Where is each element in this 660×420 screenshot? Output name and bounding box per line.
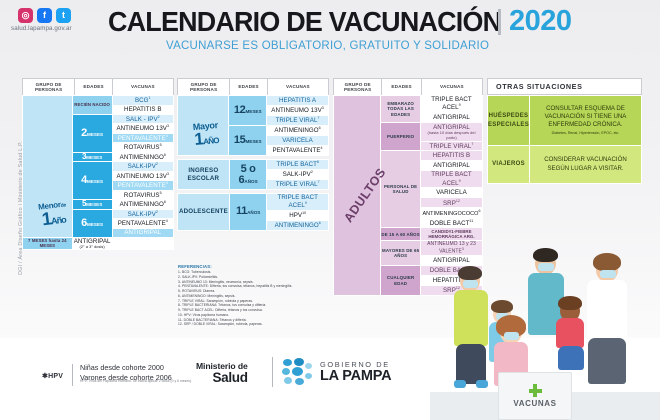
age-label: 12MESES bbox=[229, 105, 266, 116]
table-row: EMBARAZO TODAS LAS EDADES TRIPLE BACT AC… bbox=[334, 96, 483, 113]
col-header-group: GRUPO DE PERSONAS bbox=[334, 79, 381, 95]
ministry-logo-text: Ministerio de Salud bbox=[196, 361, 248, 385]
table-row: 7 MESES hasta 24 MESES ANTIGRIPAL(2° a 3… bbox=[23, 237, 174, 250]
table-adults-header: GRUPO DE PERSONAS EDADES VACUNAS bbox=[333, 78, 483, 95]
hpv-divider bbox=[72, 364, 73, 386]
vaccine-label: ANTIGRIPAL bbox=[421, 162, 482, 169]
col-header-ages: EDADES bbox=[74, 79, 112, 95]
col-header-vaccines: VACUNAS bbox=[112, 79, 173, 95]
vaccine-label: HEPATITIS A bbox=[267, 97, 328, 104]
vaccine-label: VARICELA bbox=[421, 189, 482, 196]
ministry-line2: Salud bbox=[196, 371, 248, 385]
table-ingreso-escolar: INGRESO ESCOLAR 5 o 6AÑOS TRIPLE BACT8 S… bbox=[177, 159, 329, 190]
vaccine-label: BCG1 bbox=[113, 96, 173, 105]
page-subtitle: VACUNARSE ES OBLIGATORIO, GRATUITO Y SOL… bbox=[166, 40, 489, 52]
vaccine-label: PENTAVALENTE4 bbox=[113, 219, 173, 228]
references-title: REFERENCIAS: bbox=[178, 264, 330, 269]
vaccine-label: ANTINEUMO 13V3 bbox=[113, 124, 173, 133]
age-label: MAYORES DE 65 AÑOS bbox=[381, 248, 420, 259]
vaccine-label: TRIPLE VIRAL7 bbox=[267, 180, 328, 189]
table-older-header: GRUPO DE PERSONAS EDADES VACUNAS bbox=[177, 78, 329, 95]
vaccine-label: HEPATITIS B bbox=[421, 152, 482, 159]
vaccine-label: TRIPLE VIRAL7 bbox=[421, 142, 482, 151]
age-label: 11AÑOS bbox=[230, 206, 267, 217]
vaccine-label: VARICELA bbox=[267, 137, 328, 144]
vaccine-label: SALK-IPV2 bbox=[267, 170, 328, 179]
group-label-adolescente: ADOLESCENTE bbox=[178, 208, 229, 215]
vaccine-label: TRIPLE VIRAL7 bbox=[267, 116, 328, 125]
col-header-ages: EDADES bbox=[229, 79, 267, 95]
vaccine-label: ROTAVIRUS5 bbox=[113, 143, 173, 152]
col-header-vaccines: VACUNAS bbox=[267, 79, 328, 95]
vaccine-label: ANTIMENINGO6 bbox=[113, 153, 173, 162]
table-other-situations: OTRAS SITUACIONES HUÉSPEDES ESPECIALES C… bbox=[487, 78, 642, 184]
table-children-header: GRUPO DE PERSONAS EDADES VACUNAS bbox=[22, 78, 174, 95]
ministry-divider bbox=[272, 357, 273, 387]
government-line2: LA PAMPA bbox=[320, 369, 391, 384]
vaccine-label: PENTAVALENTE4 bbox=[113, 134, 173, 143]
vaccine-label: ANTIGRIPAL(hasta 10 días después del par… bbox=[421, 124, 482, 140]
age-label: EMBARAZO TODAS LAS EDADES bbox=[381, 101, 420, 117]
vaccine-label: ANTIGRIPAL(2° a 3° dosis) bbox=[73, 238, 112, 250]
header: ◎ f t salud.lapampa.gov.ar CALENDARIO DE… bbox=[0, 0, 660, 62]
hpv-subnote: HPV: Virus del Papiloma Humano. Se indic… bbox=[80, 379, 192, 383]
lapampa-logo-icon bbox=[281, 357, 315, 387]
age-label: 5 o 6AÑOS bbox=[230, 164, 267, 186]
vaccine-label: ANTIMENINGO6 bbox=[267, 126, 328, 135]
vaccine-label: ANTIMENINGO6 bbox=[267, 221, 328, 230]
site-url[interactable]: salud.lapampa.gov.ar bbox=[11, 25, 72, 32]
vaccine-label: TRIPLE BACT8 bbox=[267, 160, 328, 169]
vaccine-label: ANTIGRIPAL bbox=[113, 229, 173, 236]
vaccine-label: TRIPLE BACT ACEL9 bbox=[421, 171, 482, 187]
table-adolescente: ADOLESCENTE 11AÑOS TRIPLE BACT ACEL9 HPV… bbox=[177, 193, 329, 231]
hpv-asterisk-label: ✱HPV bbox=[42, 372, 63, 380]
vaccine-label: TRIPLE BACT ACEL9 bbox=[267, 194, 328, 210]
table-row: HUÉSPEDES ESPECIALES CONSULTAR ESQUEMA D… bbox=[488, 96, 642, 146]
social-links: ◎ f t bbox=[18, 8, 71, 23]
page-title: CALENDARIO DE VACUNACIÓN bbox=[108, 6, 501, 38]
table-other-body: HUÉSPEDES ESPECIALES CONSULTAR ESQUEMA D… bbox=[487, 95, 642, 184]
table-row: VIAJEROS CONSIDERAR VACUNACIÓN SEGÚN LUG… bbox=[488, 146, 642, 184]
vaccine-label: SALK-IPV2 bbox=[113, 210, 173, 219]
references-block: REFERENCIAS: 1- BCG: Tuberculosis. 2- SA… bbox=[178, 264, 330, 327]
vaccine-label: ANTINEUMO 13V3 bbox=[267, 106, 328, 115]
vaccine-label: HPV10 bbox=[267, 211, 328, 220]
other-label: VIAJEROS bbox=[488, 146, 530, 184]
other-label: HUÉSPEDES ESPECIALES bbox=[488, 96, 530, 146]
vaccine-label: TRIPLE BACT ACEL9 bbox=[421, 96, 482, 112]
title-divider bbox=[498, 9, 501, 35]
vaccine-label: ANTINEUMO 13V3 bbox=[113, 172, 173, 181]
age-label: 15MESES bbox=[229, 135, 266, 146]
vaccine-label: HEPATITIS B bbox=[113, 106, 173, 113]
table-row: INGRESO ESCOLAR 5 o 6AÑOS TRIPLE BACT8 bbox=[178, 160, 329, 170]
age-label: RECIÉN NACIDO bbox=[73, 102, 112, 107]
vaccine-label: PENTAVALENTE4 bbox=[113, 181, 173, 190]
col-header-group: GRUPO DE PERSONAS bbox=[178, 79, 229, 95]
table-children: GRUPO DE PERSONAS EDADES VACUNAS RECIÉN … bbox=[22, 78, 174, 250]
vaccine-label: ANTIGRIPAL bbox=[421, 114, 482, 121]
col-header-ages: EDADES bbox=[381, 79, 420, 95]
group-label-mayor-1-ano: Mayor 1AÑO bbox=[180, 119, 232, 149]
age-label: 2MESES bbox=[73, 128, 112, 139]
other-text: CONSIDERAR VACUNACIÓN SEGÚN LUGAR A VISI… bbox=[530, 152, 641, 176]
age-label: PUERPERIO bbox=[381, 134, 420, 139]
table-row: RECIÉN NACIDO BCG1 bbox=[23, 96, 174, 106]
reference-item: 12- SRP / DOBLE VIRAL: Sarampión, rubéol… bbox=[178, 322, 330, 327]
instagram-icon[interactable]: ◎ bbox=[18, 8, 33, 23]
age-label: PERSONAL DE SALUD bbox=[381, 184, 420, 195]
poster-root: ◎ f t salud.lapampa.gov.ar CALENDARIO DE… bbox=[0, 0, 660, 420]
other-text: CONSULTAR ESQUEMA DE VACUNACIÓN SI TIENE… bbox=[530, 101, 641, 141]
age-label: 7 MESES hasta 24 MESES bbox=[23, 238, 72, 249]
vaccine-label: PENTAVALENTE4 bbox=[267, 146, 328, 155]
other-situations-header: OTRAS SITUACIONES bbox=[487, 78, 642, 95]
table-older: GRUPO DE PERSONAS EDADES VACUNAS 12MESES… bbox=[177, 78, 329, 231]
col-header-vaccines: VACUNAS bbox=[421, 79, 482, 95]
year-label: 2020 bbox=[509, 5, 572, 38]
table-row: ADOLESCENTE 11AÑOS TRIPLE BACT ACEL9 bbox=[178, 194, 329, 211]
vaccine-label: ROTAVIRUS5 bbox=[113, 191, 173, 200]
twitter-icon[interactable]: t bbox=[56, 8, 71, 23]
vaccine-label: SALK-IPV2 bbox=[113, 162, 173, 171]
vaccine-label: ANTIMENINGO6 bbox=[113, 200, 173, 209]
age-label: 3MESES bbox=[73, 153, 112, 161]
government-logo-text: GOBIERNO DE LA PAMPA bbox=[320, 360, 391, 384]
group-label-ingreso-escolar: INGRESO ESCOLAR bbox=[178, 167, 229, 182]
age-label: DE 15 A 60 AÑOS bbox=[381, 232, 420, 237]
col-header-group: GRUPO DE PERSONAS bbox=[23, 79, 74, 95]
vaccine-label: SRP12 bbox=[421, 199, 482, 208]
age-label: 4MESES bbox=[73, 175, 112, 186]
hpv-note-line1: Niñas desde cohorte 2000 bbox=[80, 363, 172, 373]
facebook-icon[interactable]: f bbox=[37, 8, 52, 23]
vaccine-label: SALK - IPV2 bbox=[113, 115, 173, 124]
age-label: CUALQUIER EDAD bbox=[381, 275, 420, 286]
table-row: 12MESES HEPATITIS A bbox=[178, 96, 329, 106]
